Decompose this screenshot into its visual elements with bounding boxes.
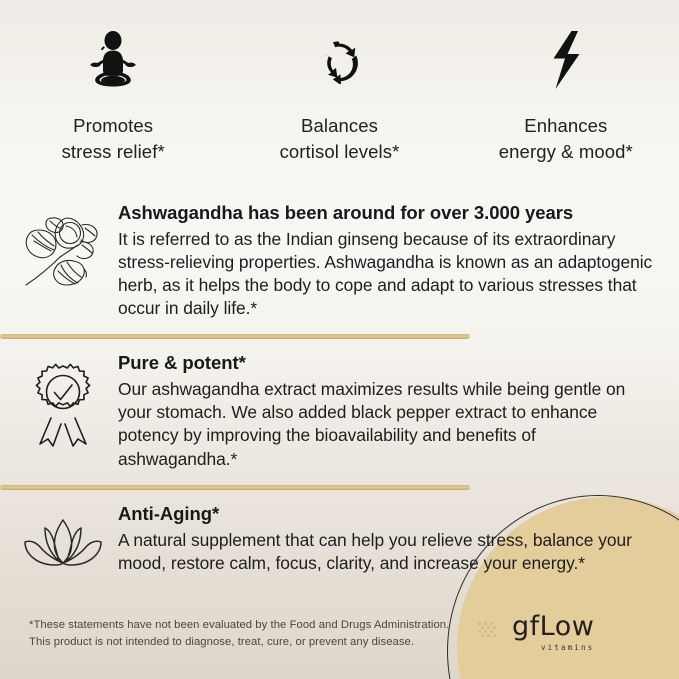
award-ribbon-icon: [8, 351, 118, 447]
lightning-bolt-icon: [549, 28, 583, 92]
benefit-body: Ashwagandha has been around for over 3.0…: [118, 201, 663, 321]
benefit-title: Anti-Aging*: [118, 502, 657, 526]
brand-wordmark: gfLow vitamins: [512, 613, 594, 652]
disclaimer-line-1: *These statements have not been evaluate…: [29, 617, 449, 634]
feature-label: Enhances energy & mood*: [499, 113, 633, 166]
meditation-icon: [87, 28, 139, 92]
footer: *These statements have not been evaluate…: [0, 601, 679, 679]
benefit-title: Pure & potent*: [118, 351, 657, 375]
benefit-title: Ashwagandha has been around for over 3.0…: [118, 201, 657, 225]
brand-name: gfLow: [512, 613, 594, 640]
product-detail-page: Promotes stress relief* Balances cortiso…: [0, 0, 679, 679]
ashwagandha-plant-icon: [8, 201, 118, 295]
benefit-section-history: Ashwagandha has been around for over 3.0…: [0, 189, 679, 335]
benefit-text: It is referred to as the Indian ginseng …: [118, 228, 657, 321]
feature-highlights-row: Promotes stress relief* Balances cortiso…: [0, 0, 679, 166]
feature-label: Balances cortisol levels*: [280, 113, 400, 166]
benefit-text: A natural supplement that can help you r…: [118, 529, 657, 575]
benefit-text: Our ashwagandha extract maximizes result…: [118, 378, 657, 471]
feature-item-cortisol-balance: Balances cortisol levels*: [226, 28, 452, 166]
brand-logo: gfLow vitamins: [478, 613, 594, 652]
benefit-body: Pure & potent* Our ashwagandha extract m…: [118, 351, 663, 471]
lotus-flower-icon: [8, 502, 118, 576]
feature-label: Promotes stress relief*: [62, 113, 165, 166]
disclaimer-text: *These statements have not been evaluate…: [0, 617, 449, 651]
feature-item-stress-relief: Promotes stress relief*: [0, 28, 226, 166]
feature-item-energy-mood: Enhances energy & mood*: [453, 28, 679, 166]
brand-mark-icon: [478, 622, 500, 644]
benefit-section-purity: Pure & potent* Our ashwagandha extract m…: [0, 339, 679, 485]
cycle-arrows-icon: [315, 28, 363, 92]
benefit-sections: Ashwagandha has been around for over 3.0…: [0, 189, 679, 590]
brand-tagline: vitamins: [541, 643, 594, 652]
disclaimer-line-2: This product is not intended to diagnose…: [29, 634, 449, 651]
benefit-section-anti-aging: Anti-Aging* A natural supplement that ca…: [0, 490, 679, 590]
benefit-body: Anti-Aging* A natural supplement that ca…: [118, 502, 663, 575]
